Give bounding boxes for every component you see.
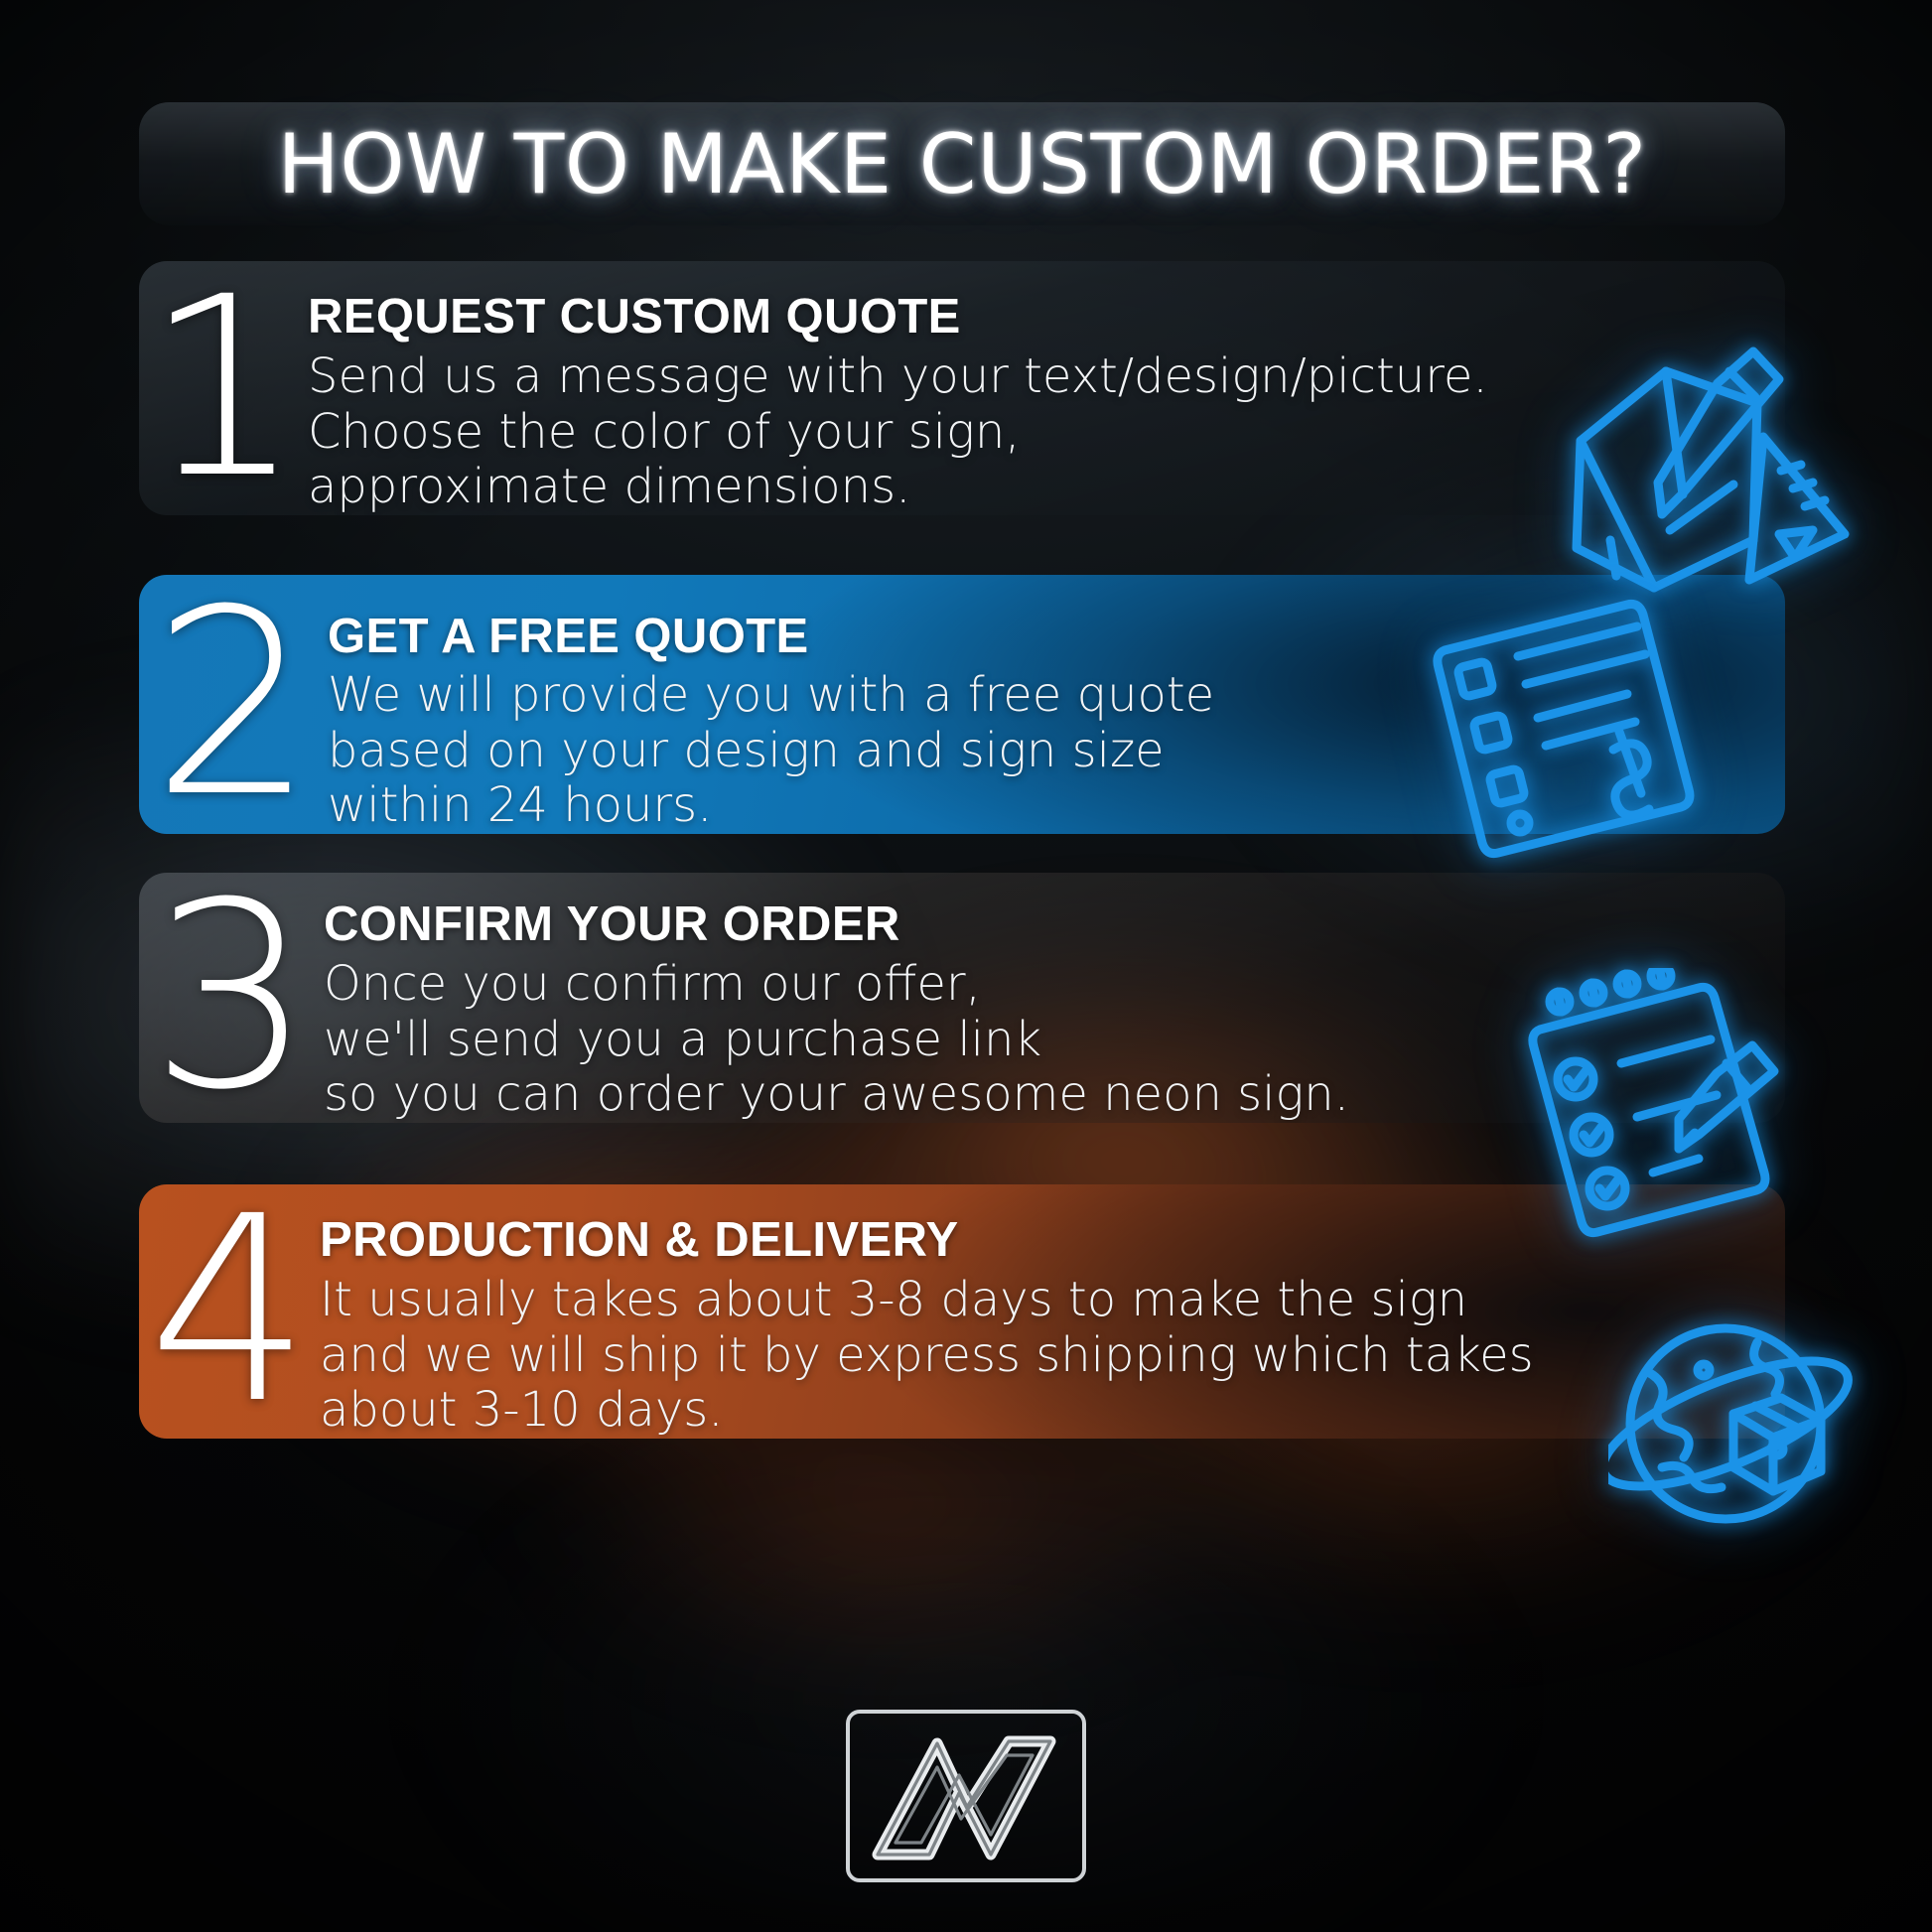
step-heading-3: CONFIRM YOUR ORDER — [324, 897, 1759, 952]
step-body-3: CONFIRM YOUR ORDER Once you confirm our … — [324, 873, 1785, 1123]
content-frame: HOW TO MAKE CUSTOM ORDER? 1 REQUEST CUST… — [0, 0, 1932, 1932]
step-number-1: 1 — [139, 261, 308, 515]
page-title: HOW TO MAKE CUSTOM ORDER? — [277, 116, 1646, 212]
step-card-4: 4 PRODUCTION & DELIVERY It usually takes… — [139, 1184, 1785, 1450]
step-text-line: within 24 hours. — [328, 778, 1759, 834]
step-body-4: PRODUCTION & DELIVERY It usually takes a… — [320, 1184, 1785, 1439]
step-body-1: REQUEST CUSTOM QUOTE Send us a message w… — [308, 261, 1785, 515]
step-text-line: Choose the color of your sign, — [308, 405, 1759, 461]
step-body-2: GET A FREE QUOTE We will provide you wit… — [328, 575, 1785, 834]
step-text-1: Send us a message with your text/design/… — [308, 349, 1759, 515]
step-heading-1: REQUEST CUSTOM QUOTE — [308, 289, 1759, 345]
step-card-1: 1 REQUEST CUSTOM QUOTE Send us a message… — [139, 261, 1785, 531]
step-text-line: approximate dimensions. — [308, 460, 1759, 515]
step-text-line: we'll send you a purchase link — [324, 1013, 1759, 1068]
step-text-line: We will provide you with a free quote — [328, 668, 1759, 724]
step-number-3: 3 — [139, 873, 324, 1123]
step-text-line: It usually takes about 3-8 days to make … — [320, 1273, 1759, 1328]
step-heading-4: PRODUCTION & DELIVERY — [320, 1212, 1759, 1268]
step-card-2: 2 GET A FREE QUOTE We will provide you w… — [139, 575, 1785, 829]
step-number-4: 4 — [139, 1184, 320, 1439]
step-number-2: 2 — [139, 575, 328, 834]
step-text-line: so you can order your awesome neon sign. — [324, 1067, 1759, 1123]
step-heading-2: GET A FREE QUOTE — [328, 609, 1759, 664]
step-text-2: We will provide you with a free quote ba… — [328, 668, 1759, 834]
step-text-line: Once you confirm our offer, — [324, 957, 1759, 1013]
step-text-4: It usually takes about 3-8 days to make … — [320, 1273, 1759, 1439]
page-title-bar: HOW TO MAKE CUSTOM ORDER? — [139, 102, 1785, 225]
lw-neon-monogram-logo — [842, 1706, 1090, 1886]
step-text-line: Send us a message with your text/design/… — [308, 349, 1759, 405]
infographic-canvas: HOW TO MAKE CUSTOM ORDER? 1 REQUEST CUST… — [0, 0, 1932, 1932]
step-card-3: 3 CONFIRM YOUR ORDER Once you confirm ou… — [139, 873, 1785, 1143]
step-text-line: and we will ship it by express shipping … — [320, 1328, 1759, 1384]
step-text-3: Once you confirm our offer, we'll send y… — [324, 957, 1759, 1123]
step-text-line: about 3-10 days. — [320, 1383, 1759, 1439]
step-text-line: based on your design and sign size — [328, 724, 1759, 779]
